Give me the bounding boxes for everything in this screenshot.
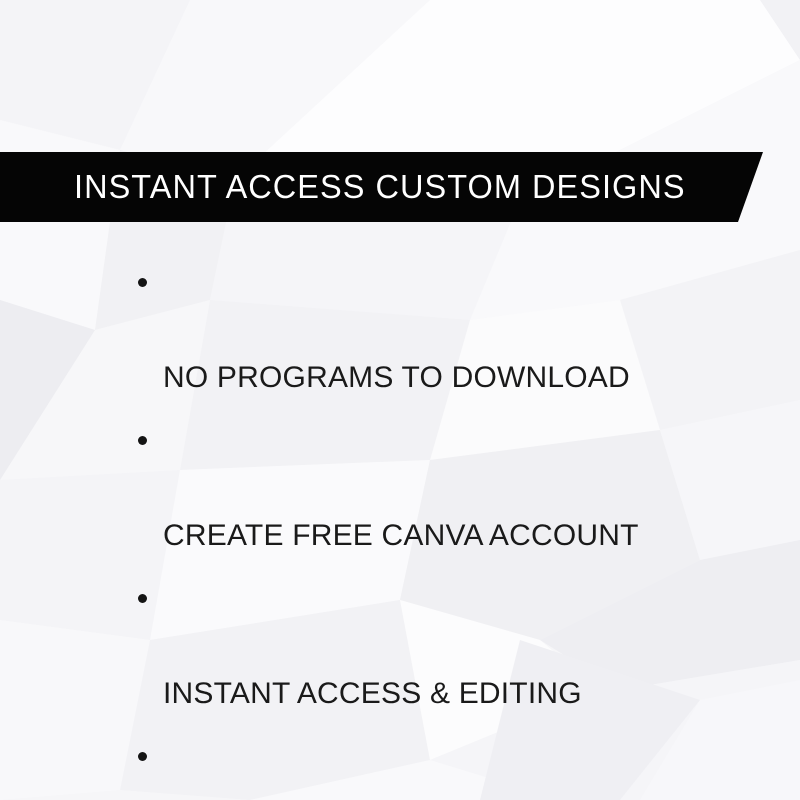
list-item: INSTANT ACCESS & EDITING (134, 574, 734, 718)
list-item: CREATE FREE CANVA ACCOUNT (134, 416, 734, 560)
list-item-label: CREATE FREE CANVA ACCOUNT (163, 519, 639, 552)
list-item-label: INSTANT ACCESS & EDITING (163, 677, 582, 710)
poster-canvas: INSTANT ACCESS CUSTOM DESIGNS NO PROGRAM… (0, 0, 800, 800)
banner-title: INSTANT ACCESS CUSTOM DESIGNS (74, 152, 686, 222)
bullet-icon (138, 278, 147, 287)
bullet-icon (138, 436, 147, 445)
feature-list: NO PROGRAMS TO DOWNLOAD CREATE FREE CANV… (134, 258, 734, 800)
list-item-label: NO PROGRAMS TO DOWNLOAD (163, 361, 630, 394)
bullet-icon (138, 752, 147, 761)
banner: INSTANT ACCESS CUSTOM DESIGNS (0, 152, 770, 222)
bullet-icon (138, 594, 147, 603)
list-item: EDIT ON ANY DEVICE (134, 732, 734, 800)
list-item: NO PROGRAMS TO DOWNLOAD (134, 258, 734, 402)
